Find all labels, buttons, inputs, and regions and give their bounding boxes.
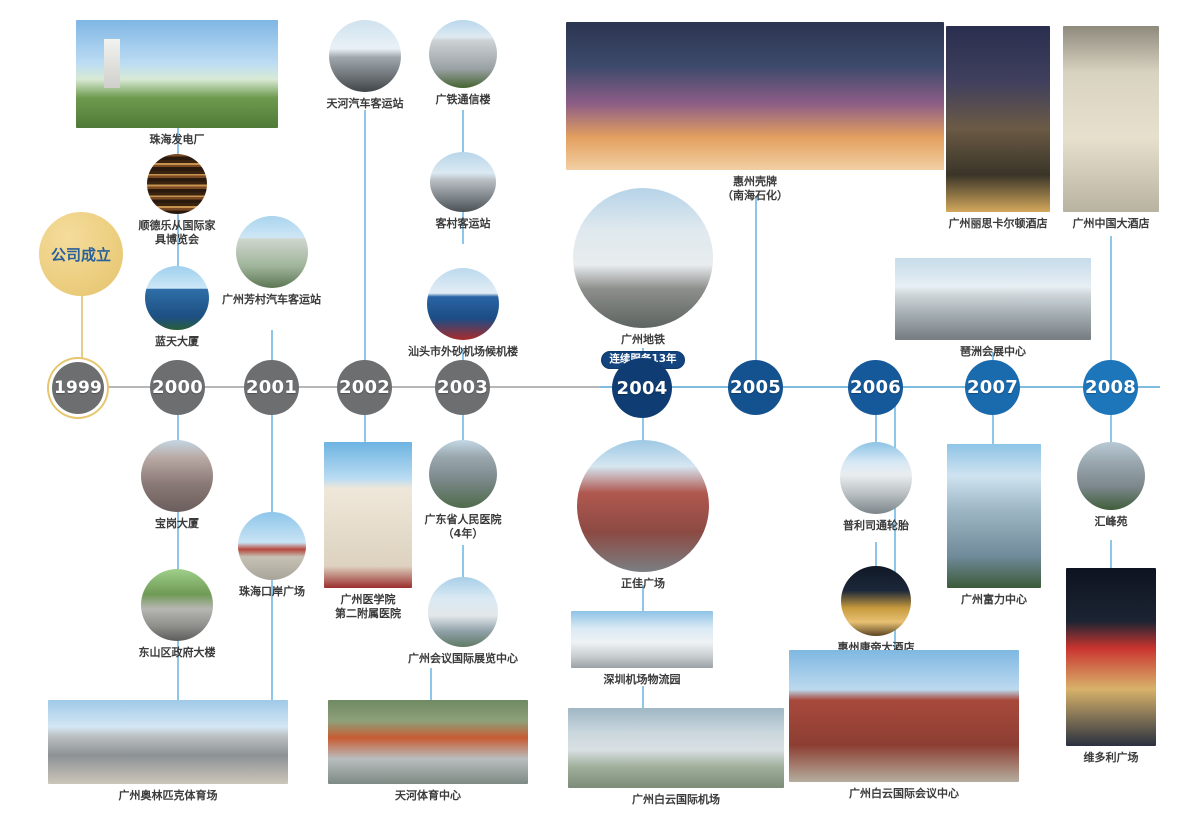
- project-p16[interactable]: 珠海口岸广场: [227, 512, 317, 599]
- project-caption-p14: 宝岗大厦: [139, 517, 215, 531]
- year-label-2001: 2001: [246, 377, 297, 398]
- project-caption-p27: 广州奥林匹克体育场: [48, 789, 288, 803]
- project-p08[interactable]: 汕头市外砂机场候机楼: [405, 268, 521, 359]
- project-image-p02: [147, 154, 207, 214]
- year-node-2001[interactable]: 2001: [244, 360, 299, 415]
- project-image-p11: [946, 26, 1050, 212]
- project-image-p22: [840, 442, 912, 514]
- year-node-2005[interactable]: 2005: [728, 360, 783, 415]
- project-caption-p17: 广州医学院 第二附属医院: [324, 593, 412, 621]
- project-caption-p25: 汇峰苑: [1076, 515, 1146, 529]
- project-p13[interactable]: 琶洲会展中心: [895, 258, 1091, 359]
- project-caption-p22: 普利司通轮胎: [830, 519, 922, 533]
- year-label-2000: 2000: [152, 377, 203, 398]
- year-node-2002[interactable]: 2002: [337, 360, 392, 415]
- project-p22[interactable]: 普利司通轮胎: [830, 442, 922, 533]
- project-p10[interactable]: 惠州壳牌 （南海石化）: [566, 22, 944, 203]
- year-label-2006: 2006: [850, 377, 901, 398]
- project-caption-p05: 天河汽车客运站: [320, 97, 410, 111]
- project-p30[interactable]: 广州白云国际会议中心: [789, 650, 1019, 801]
- project-caption-p15: 东山区政府大楼: [124, 646, 230, 660]
- founding-bubble[interactable]: 公司成立: [39, 212, 123, 296]
- project-p14[interactable]: 宝岗大厦: [139, 440, 215, 531]
- project-image-p26: [1066, 568, 1156, 746]
- year-node-2006[interactable]: 2006: [848, 360, 903, 415]
- project-caption-p21: 深圳机场物流园: [571, 673, 713, 687]
- project-caption-p29: 广州白云国际机场: [568, 793, 784, 807]
- stem-2003-below-b: [462, 545, 464, 577]
- project-image-p25: [1077, 442, 1145, 510]
- timeline-infographic: 公司成立 1999 2000 2001 2002 2003 2004 2005 …: [0, 0, 1200, 814]
- project-caption-p18: 广东省人民医院 （4年）: [418, 513, 508, 541]
- project-image-p20: [577, 440, 709, 572]
- project-p11[interactable]: 广州丽思卡尔顿酒店: [946, 26, 1050, 231]
- project-p15[interactable]: 东山区政府大楼: [124, 569, 230, 660]
- project-p24[interactable]: 广州富力中心: [947, 444, 1041, 607]
- project-p05[interactable]: 天河汽车客运站: [320, 20, 410, 111]
- project-image-p19: [428, 577, 498, 647]
- project-p23[interactable]: 惠州康帝大酒店: [826, 566, 926, 655]
- stem-2006-below-b: [875, 542, 877, 566]
- year-label-2004: 2004: [617, 378, 668, 399]
- project-caption-p13: 琶洲会展中心: [895, 345, 1091, 359]
- project-caption-p03: 蓝天大厦: [137, 335, 217, 349]
- project-image-p21: [571, 611, 713, 668]
- project-p03[interactable]: 蓝天大厦: [137, 266, 217, 349]
- project-p20[interactable]: 正佳广场: [574, 440, 712, 591]
- year-node-1999[interactable]: 1999: [52, 362, 104, 414]
- founding-label: 公司成立: [51, 244, 111, 265]
- project-p02[interactable]: 顺德乐从国际家具博览会: [137, 154, 217, 247]
- project-p18[interactable]: 广东省人民医院 （4年）: [418, 440, 508, 541]
- year-node-2004[interactable]: 2004: [612, 358, 672, 418]
- project-image-p23: [841, 566, 911, 636]
- project-p04[interactable]: 广州芳村汽车客运站: [219, 216, 324, 307]
- project-image-p16: [238, 512, 306, 580]
- project-image-p05: [329, 20, 401, 92]
- stem-2001-below: [271, 400, 273, 512]
- year-node-2000[interactable]: 2000: [150, 360, 205, 415]
- project-image-p07: [430, 152, 496, 212]
- project-p29[interactable]: 广州白云国际机场: [568, 708, 784, 807]
- project-caption-p30: 广州白云国际会议中心: [789, 787, 1019, 801]
- project-caption-p12: 广州中国大酒店: [1063, 217, 1159, 231]
- project-p17[interactable]: 广州医学院 第二附属医院: [324, 442, 412, 621]
- project-image-p17: [324, 442, 412, 588]
- project-image-p01: [76, 20, 278, 128]
- stem-2004-below-c: [642, 686, 644, 708]
- project-image-p03: [145, 266, 209, 330]
- project-caption-p28: 天河体育中心: [328, 789, 528, 803]
- project-p09[interactable]: 广州地铁 连续服务13年: [572, 188, 714, 369]
- project-caption-p10: 惠州壳牌 （南海石化）: [566, 175, 944, 203]
- project-caption-p11: 广州丽思卡尔顿酒店: [946, 217, 1050, 231]
- year-label-2003: 2003: [437, 377, 488, 398]
- year-label-1999: 1999: [54, 378, 102, 398]
- project-caption-p24: 广州富力中心: [947, 593, 1041, 607]
- stem-2003-above-a: [462, 110, 464, 156]
- year-node-2008[interactable]: 2008: [1083, 360, 1138, 415]
- year-label-2005: 2005: [730, 377, 781, 398]
- project-caption-p04: 广州芳村汽车客运站: [219, 293, 324, 307]
- project-caption-p06: 广铁通信楼: [422, 93, 504, 107]
- project-image-p14: [141, 440, 213, 512]
- project-caption-p26: 维多利广场: [1066, 751, 1156, 765]
- project-p28[interactable]: 天河体育中心: [328, 700, 528, 803]
- project-image-p15: [141, 569, 213, 641]
- project-image-p28: [328, 700, 528, 784]
- project-p21[interactable]: 深圳机场物流园: [571, 611, 713, 687]
- project-image-p09: [573, 188, 713, 328]
- project-image-p10: [566, 22, 944, 170]
- project-p25[interactable]: 汇峰苑: [1076, 442, 1146, 529]
- project-caption-p02: 顺德乐从国际家具博览会: [137, 219, 217, 247]
- project-image-p18: [429, 440, 497, 508]
- project-image-p24: [947, 444, 1041, 588]
- project-p01[interactable]: 珠海发电厂: [76, 20, 278, 147]
- project-image-p30: [789, 650, 1019, 782]
- project-caption-p01: 珠海发电厂: [76, 133, 278, 147]
- project-p06[interactable]: 广铁通信楼: [422, 20, 504, 107]
- project-image-p27: [48, 700, 288, 784]
- project-p26[interactable]: 维多利广场: [1066, 568, 1156, 765]
- project-p27[interactable]: 广州奥林匹克体育场: [48, 700, 288, 803]
- year-label-2007: 2007: [967, 377, 1018, 398]
- project-p07[interactable]: 客村客运站: [422, 152, 504, 231]
- project-image-p04: [236, 216, 308, 288]
- project-caption-p20: 正佳广场: [574, 577, 712, 591]
- stem-2008-below-b: [1110, 540, 1112, 568]
- project-image-p08: [427, 268, 499, 340]
- project-image-p13: [895, 258, 1091, 340]
- year-label-2002: 2002: [339, 377, 390, 398]
- project-caption-p08: 汕头市外砂机场候机楼: [405, 345, 521, 359]
- project-image-p29: [568, 708, 784, 788]
- project-caption-p07: 客村客运站: [422, 217, 504, 231]
- project-caption-p19: 广州会议国际展览中心: [404, 652, 522, 666]
- year-label-2008: 2008: [1085, 377, 1136, 398]
- project-p12[interactable]: 广州中国大酒店: [1063, 26, 1159, 231]
- project-image-p12: [1063, 26, 1159, 212]
- stem-2002-above: [364, 110, 366, 388]
- year-node-2003[interactable]: 2003: [435, 360, 490, 415]
- stem-2002-below-ext: [430, 668, 432, 700]
- year-node-2007[interactable]: 2007: [965, 360, 1020, 415]
- project-p19[interactable]: 广州会议国际展览中心: [404, 577, 522, 666]
- project-caption-p09: 广州地铁: [572, 333, 714, 347]
- project-image-p06: [429, 20, 497, 88]
- project-caption-p16: 珠海口岸广场: [227, 585, 317, 599]
- stem-2000-below-b: [177, 541, 179, 569]
